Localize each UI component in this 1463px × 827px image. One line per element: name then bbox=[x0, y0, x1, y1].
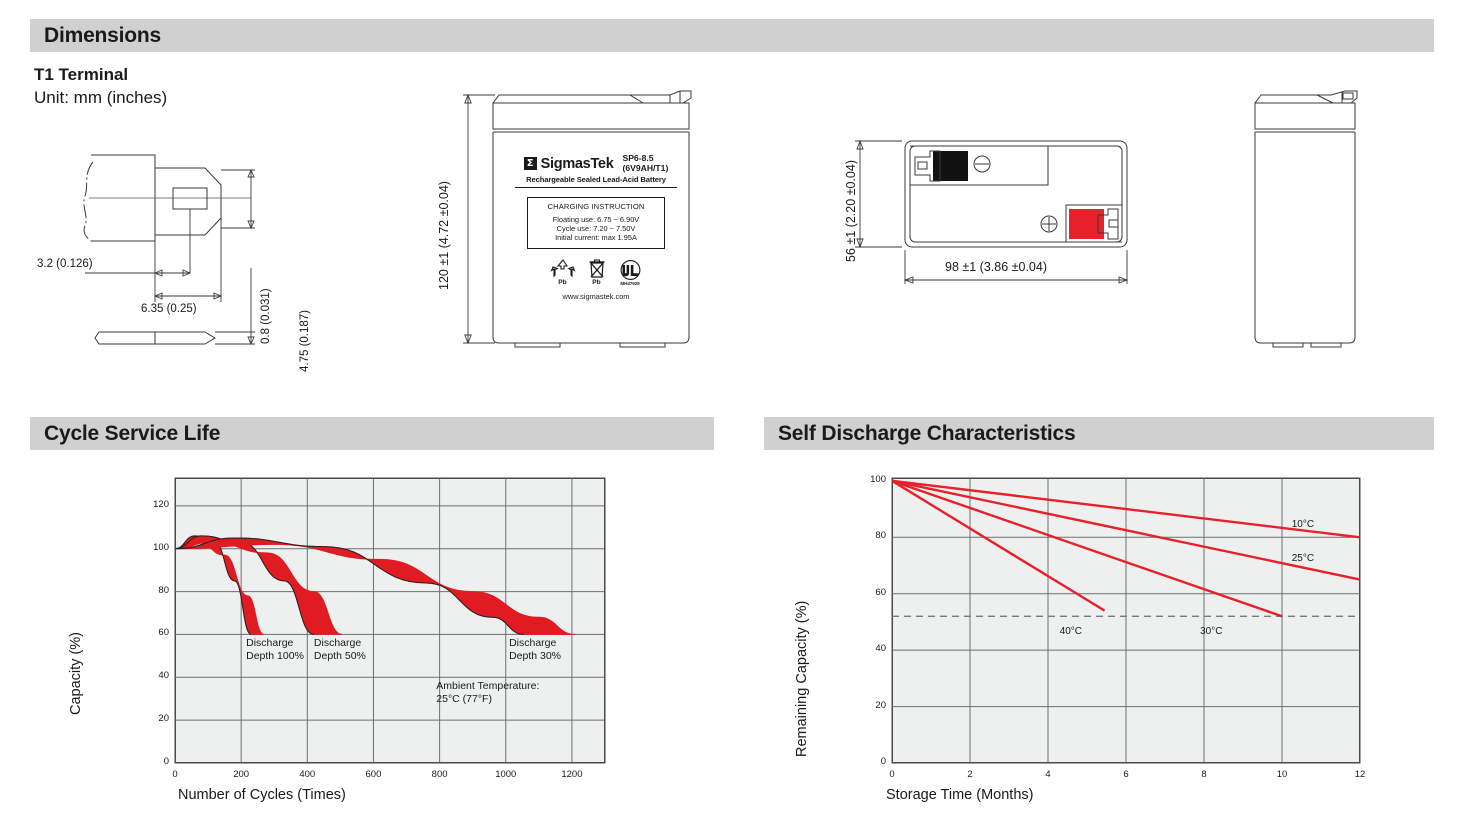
self-series-label: 25°C bbox=[1292, 553, 1314, 564]
dim-terminal-thickness: 0.8 (0.031) bbox=[260, 288, 272, 344]
cycle-x-tick: 200 bbox=[216, 769, 266, 780]
cycle-annotation: DischargeDepth 30% bbox=[509, 637, 561, 663]
cycle-y-tick: 60 bbox=[131, 627, 169, 638]
self-x-axis-title: Storage Time (Months) bbox=[886, 787, 1033, 803]
brand-name: SigmasTek bbox=[541, 156, 614, 172]
battery-height-dimension-line bbox=[455, 85, 495, 355]
battery-side-view bbox=[1245, 85, 1375, 355]
section-header-self-discharge: Self Discharge Characteristics bbox=[764, 417, 1434, 450]
self-x-tick: 0 bbox=[867, 769, 917, 780]
dim-battery-width: 98 ±1 (3.86 ±0.04) bbox=[945, 260, 1047, 274]
ul-listed-icon bbox=[618, 260, 643, 281]
self-y-tick: 40 bbox=[848, 643, 886, 654]
cycle-x-tick: 1200 bbox=[547, 769, 597, 780]
cycle-x-axis-title: Number of Cycles (Times) bbox=[178, 787, 346, 803]
self-series-label: 40°C bbox=[1060, 626, 1082, 637]
dim-battery-height: 120 ±1 (4.72 ±0.04) bbox=[437, 181, 451, 290]
cycle-y-tick: 120 bbox=[131, 499, 169, 510]
datasheet-page: Dimensions T1 Terminal Unit: mm (inches) bbox=[0, 0, 1463, 827]
dim-terminal-height: 4.75 (0.187) bbox=[299, 310, 311, 372]
model-rating: (6V9AH/T1) bbox=[622, 164, 668, 174]
cycle-x-tick: 1000 bbox=[481, 769, 531, 780]
battery-side-svg bbox=[1245, 85, 1375, 355]
terminal-unit-note: Unit: mm (inches) bbox=[34, 86, 167, 109]
section-title: Cycle Service Life bbox=[30, 422, 220, 446]
cycle-service-life-chart: Capacity (%) Number of Cycles (Times) 02… bbox=[30, 465, 720, 815]
no-bin-icon-group: Pb bbox=[587, 258, 607, 286]
self-x-tick: 4 bbox=[1023, 769, 1073, 780]
product-tagline: Rechargeable Sealed Lead-Acid Battery bbox=[505, 175, 687, 184]
battery-top-view: 56 ±1 (2.20 ±0.04) 98 ±1 (3.86 ±0.04) bbox=[830, 110, 1150, 290]
charging-line: Initial current: max 1.95A bbox=[530, 234, 662, 243]
recycle-icon bbox=[550, 258, 576, 280]
cycle-x-tick: 800 bbox=[415, 769, 465, 780]
terminal-subtitle: T1 Terminal Unit: mm (inches) bbox=[34, 64, 167, 109]
self-x-tick: 10 bbox=[1257, 769, 1307, 780]
section-title: Self Discharge Characteristics bbox=[764, 422, 1075, 446]
recycle-icon-group: Pb bbox=[550, 258, 576, 286]
annotation-line: Discharge bbox=[314, 637, 366, 650]
dim-terminal-width: 6.35 (0.25) bbox=[141, 303, 197, 315]
self-discharge-chart: Remaining Capacity (%) Storage Time (Mon… bbox=[764, 465, 1434, 815]
annotation-line: Ambient Temperature: bbox=[436, 680, 539, 693]
annotation-line: Depth 30% bbox=[509, 650, 561, 663]
cycle-x-tick: 0 bbox=[150, 769, 200, 780]
dim-terminal-offset: 3.2 (0.126) bbox=[37, 258, 93, 270]
self-series-label: 10°C bbox=[1292, 519, 1314, 530]
compliance-icon-row: Pb Pb MH47929 bbox=[505, 258, 687, 286]
self-series-label: 30°C bbox=[1200, 626, 1222, 637]
website-url: www.sigmastek.com bbox=[505, 292, 687, 301]
annotation-line: Depth 100% bbox=[246, 650, 304, 663]
cycle-y-tick: 80 bbox=[131, 585, 169, 596]
positive-terminal-pad bbox=[1069, 209, 1104, 239]
no-bin-caption: Pb bbox=[587, 279, 607, 286]
crossed-out-wheelie-bin-icon bbox=[587, 258, 607, 280]
cycle-annotation: Ambient Temperature:25°C (77°F) bbox=[436, 680, 539, 706]
battery-product-label: Σ SigmasTek SP6-8.5 (6V9AH/T1) Rechargea… bbox=[505, 145, 687, 330]
annotation-line: Discharge bbox=[246, 637, 304, 650]
self-y-axis-title: Remaining Capacity (%) bbox=[794, 601, 810, 757]
ul-file-number: MH47929 bbox=[618, 281, 643, 286]
sigma-logo-icon: Σ bbox=[524, 157, 537, 170]
terminal-heading: T1 Terminal bbox=[34, 64, 167, 86]
section-header-dimensions: Dimensions bbox=[30, 19, 1434, 52]
cycle-x-tick: 400 bbox=[282, 769, 332, 780]
cycle-annotation: DischargeDepth 100% bbox=[246, 637, 304, 663]
label-divider bbox=[515, 187, 677, 188]
annotation-line: Discharge bbox=[509, 637, 561, 650]
self-x-tick: 12 bbox=[1335, 769, 1385, 780]
self-x-tick: 2 bbox=[945, 769, 995, 780]
self-y-tick: 20 bbox=[848, 700, 886, 711]
section-title: Dimensions bbox=[30, 24, 161, 48]
negative-terminal-pad bbox=[933, 151, 968, 181]
cycle-y-tick: 100 bbox=[131, 542, 169, 553]
annotation-line: 25°C (77°F) bbox=[436, 693, 539, 706]
self-x-tick: 8 bbox=[1179, 769, 1229, 780]
recycle-caption: Pb bbox=[550, 279, 576, 286]
cycle-y-tick: 0 bbox=[131, 756, 169, 767]
section-header-cycle-service-life: Cycle Service Life bbox=[30, 417, 714, 450]
ul-mark-group: MH47929 bbox=[618, 260, 643, 286]
self-y-tick: 60 bbox=[848, 587, 886, 598]
cycle-y-axis-title: Capacity (%) bbox=[68, 632, 84, 715]
model-designation: SP6-8.5 (6V9AH/T1) bbox=[622, 154, 668, 173]
dim-battery-depth: 56 ±1 (2.20 ±0.04) bbox=[844, 160, 858, 262]
charging-lines: Floating use: 6.75 ~ 6.90V Cycle use: 7.… bbox=[530, 216, 662, 242]
cycle-y-tick: 40 bbox=[131, 670, 169, 681]
cycle-y-tick: 20 bbox=[131, 713, 169, 724]
self-y-tick: 0 bbox=[848, 756, 886, 767]
annotation-line: Depth 50% bbox=[314, 650, 366, 663]
charging-instruction-box: CHARGING INSTRUCTION Floating use: 6.75 … bbox=[527, 197, 665, 248]
charging-title: CHARGING INSTRUCTION bbox=[530, 202, 662, 211]
brand-row: Σ SigmasTek SP6-8.5 (6V9AH/T1) bbox=[505, 145, 687, 173]
self-y-tick: 80 bbox=[848, 530, 886, 541]
self-x-tick: 6 bbox=[1101, 769, 1151, 780]
cycle-annotation: DischargeDepth 50% bbox=[314, 637, 366, 663]
cycle-x-tick: 600 bbox=[348, 769, 398, 780]
self-y-tick: 100 bbox=[848, 474, 886, 485]
t1-terminal-drawing: 4.75 (0.187) 3.2 (0.126) 6.35 (0.25) 0.8… bbox=[55, 140, 355, 355]
